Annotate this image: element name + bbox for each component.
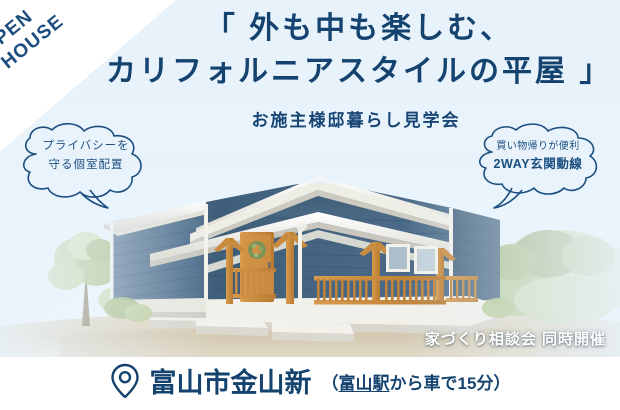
photo-caption: 家づくり相談会 同時開催 <box>425 328 606 349</box>
address-access-close-paren: ） <box>493 374 510 393</box>
address-bar: 富山市金山新 （富山駅から車で15分） <box>0 357 620 410</box>
address-city: 富山市金山新 <box>150 370 312 397</box>
feature-bubble-privacy-line2: 守る個室配置 <box>49 157 124 174</box>
page-title: 「 外も中も楽しむ、 カリフォルニアスタイルの平屋 」 <box>106 14 606 87</box>
feature-bubble-privacy-line1: プライバシーを <box>42 138 129 155</box>
address-access-rest: から車で15分 <box>390 374 494 393</box>
open-house-banner: 家づくり相談会 同時開催 OPEN HOUSE 「 外も中も楽しむ、 カリフォル… <box>0 0 620 410</box>
feature-bubble-entry-line1: 買い物帰りが便利 <box>496 139 579 154</box>
feature-bubble-entry-line2: 2WAY玄関動線 <box>493 155 582 174</box>
headline-line-2: カリフォルニアスタイルの平屋 」 <box>106 57 606 87</box>
address-access-open-paren: （ <box>322 374 339 393</box>
headline-line-1: 「 外も中も楽しむ、 <box>112 14 606 44</box>
feature-bubble-privacy: プライバシーを 守る個室配置 <box>16 124 156 188</box>
location-pin-icon <box>110 363 140 404</box>
address-access-station: 富山駅 <box>339 374 390 393</box>
feature-bubble-entry: 買い物帰りが便利 2WAY玄関動線 <box>468 126 608 186</box>
address-access: （富山駅から車で15分） <box>322 375 511 392</box>
